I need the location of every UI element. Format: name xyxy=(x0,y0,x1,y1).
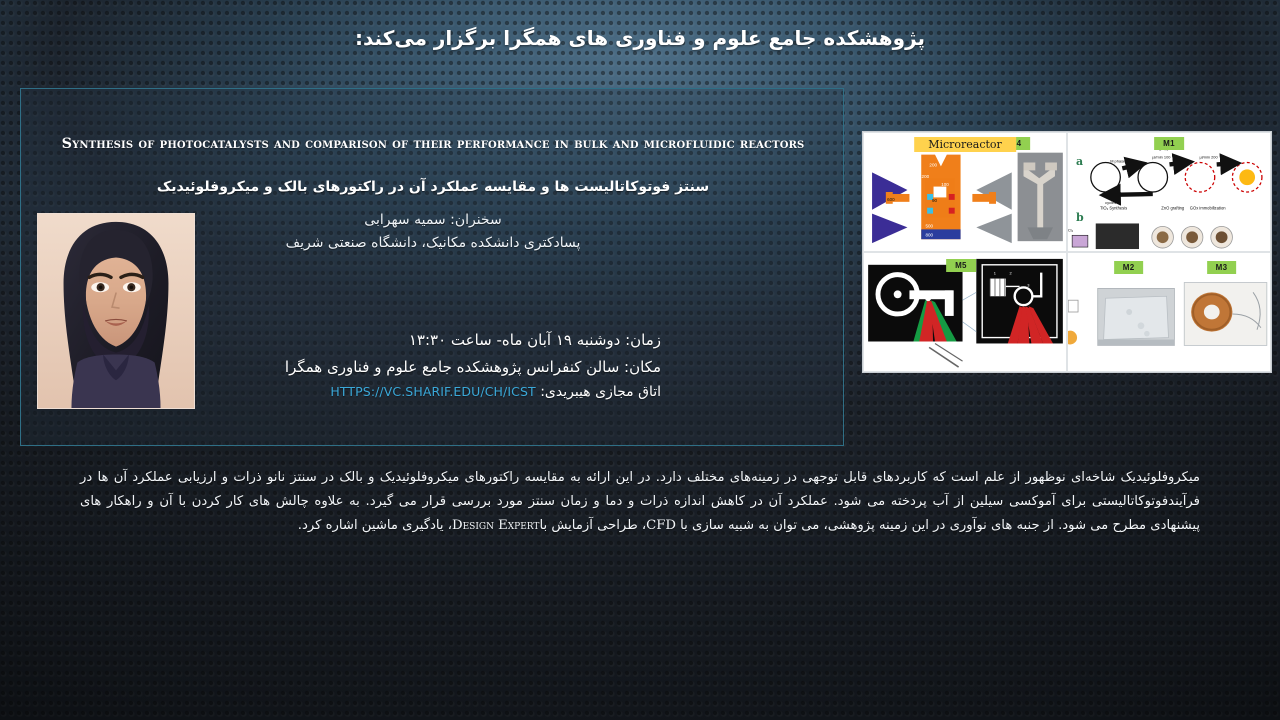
figure-badge-m2: M2 xyxy=(1114,261,1144,274)
abstract-paragraph: میکروفلوئیدیک شاخه‌ای نوظهور از علم است … xyxy=(80,466,1200,538)
figure-cell-m4: Microreactor M4 xyxy=(863,132,1067,252)
svg-text:TiO₂ Synthesis: TiO₂ Synthesis xyxy=(1100,206,1127,211)
svg-text:1: 1 xyxy=(994,271,996,276)
svg-text:800: 800 xyxy=(925,232,933,237)
abstract-term-design-expert: Design Expert xyxy=(452,518,539,533)
virtual-room-link[interactable]: HTTPS://VC.SHARIF.EDU/CH/ICST xyxy=(330,381,535,403)
svg-text:GOx immobilization: GOx immobilization xyxy=(1190,206,1226,211)
svg-text:TiCl₄: TiCl₄ xyxy=(1068,227,1074,232)
svg-text:M phase: M phase xyxy=(1110,159,1125,164)
svg-text:4 cycles: 4 cycles xyxy=(1105,200,1120,205)
svg-text:90: 90 xyxy=(932,198,938,203)
svg-text:ZnO grafting: ZnO grafting xyxy=(1161,206,1185,211)
figure-title-chip-microreactor: Microreactor xyxy=(914,137,1016,152)
svg-text:200: 200 xyxy=(922,174,930,179)
svg-text:500: 500 xyxy=(925,223,933,228)
figure-grid: M1 a b xyxy=(863,132,1271,372)
seminar-title-english: Synthesis of photocatalysts and comparis… xyxy=(27,134,839,155)
figure-cell-m2-m3: M2 M3 xyxy=(1067,252,1271,372)
figure-cell-m1: M1 a b xyxy=(1067,132,1271,252)
svg-text:100 µl/min: 100 µl/min xyxy=(1152,155,1171,160)
svg-text:100: 100 xyxy=(941,182,949,187)
svg-text:200: 200 xyxy=(929,162,937,167)
figure-badge-m1: M1 xyxy=(1154,137,1184,150)
announcement-card: Synthesis of photocatalysts and comparis… xyxy=(20,88,844,446)
figure-m2-m3-photos xyxy=(1068,253,1270,371)
research-figure-panel: M1 a b xyxy=(862,131,1272,373)
figure-badge-m3: M3 xyxy=(1207,261,1237,274)
figure-badge-m5: M5 xyxy=(946,259,976,272)
abstract-term-cfd: CFD xyxy=(646,518,676,533)
virtual-room-label: اتاق مجازی هیبریدی: xyxy=(540,384,661,400)
figure-cell-m5: M5 xyxy=(863,252,1067,372)
portrait-illustration xyxy=(38,214,194,408)
svg-text:200 µl/min: 200 µl/min xyxy=(1199,155,1218,160)
slide-root: پژوهشکده جامع علوم و فناوری های همگرا بر… xyxy=(0,0,1280,720)
figure-m1-diagram: M phase 100 µl/min 200 µl/min 70 °C 4 cy… xyxy=(1068,133,1270,251)
page-title: پژوهشکده جامع علوم و فناوری های همگرا بر… xyxy=(0,26,1280,50)
speaker-portrait xyxy=(37,213,195,409)
abstract-part-3: ، یادگیری ماشین اشاره کرد. xyxy=(298,518,452,533)
seminar-title-persian: سنتز فوتوکاتالیست ها و مقایسه عملکرد آن … xyxy=(27,179,839,195)
svg-text:2: 2 xyxy=(1010,271,1012,276)
svg-text:600: 600 xyxy=(887,197,895,202)
abstract-part-2: ، طراحی آزمایش با xyxy=(539,518,646,533)
